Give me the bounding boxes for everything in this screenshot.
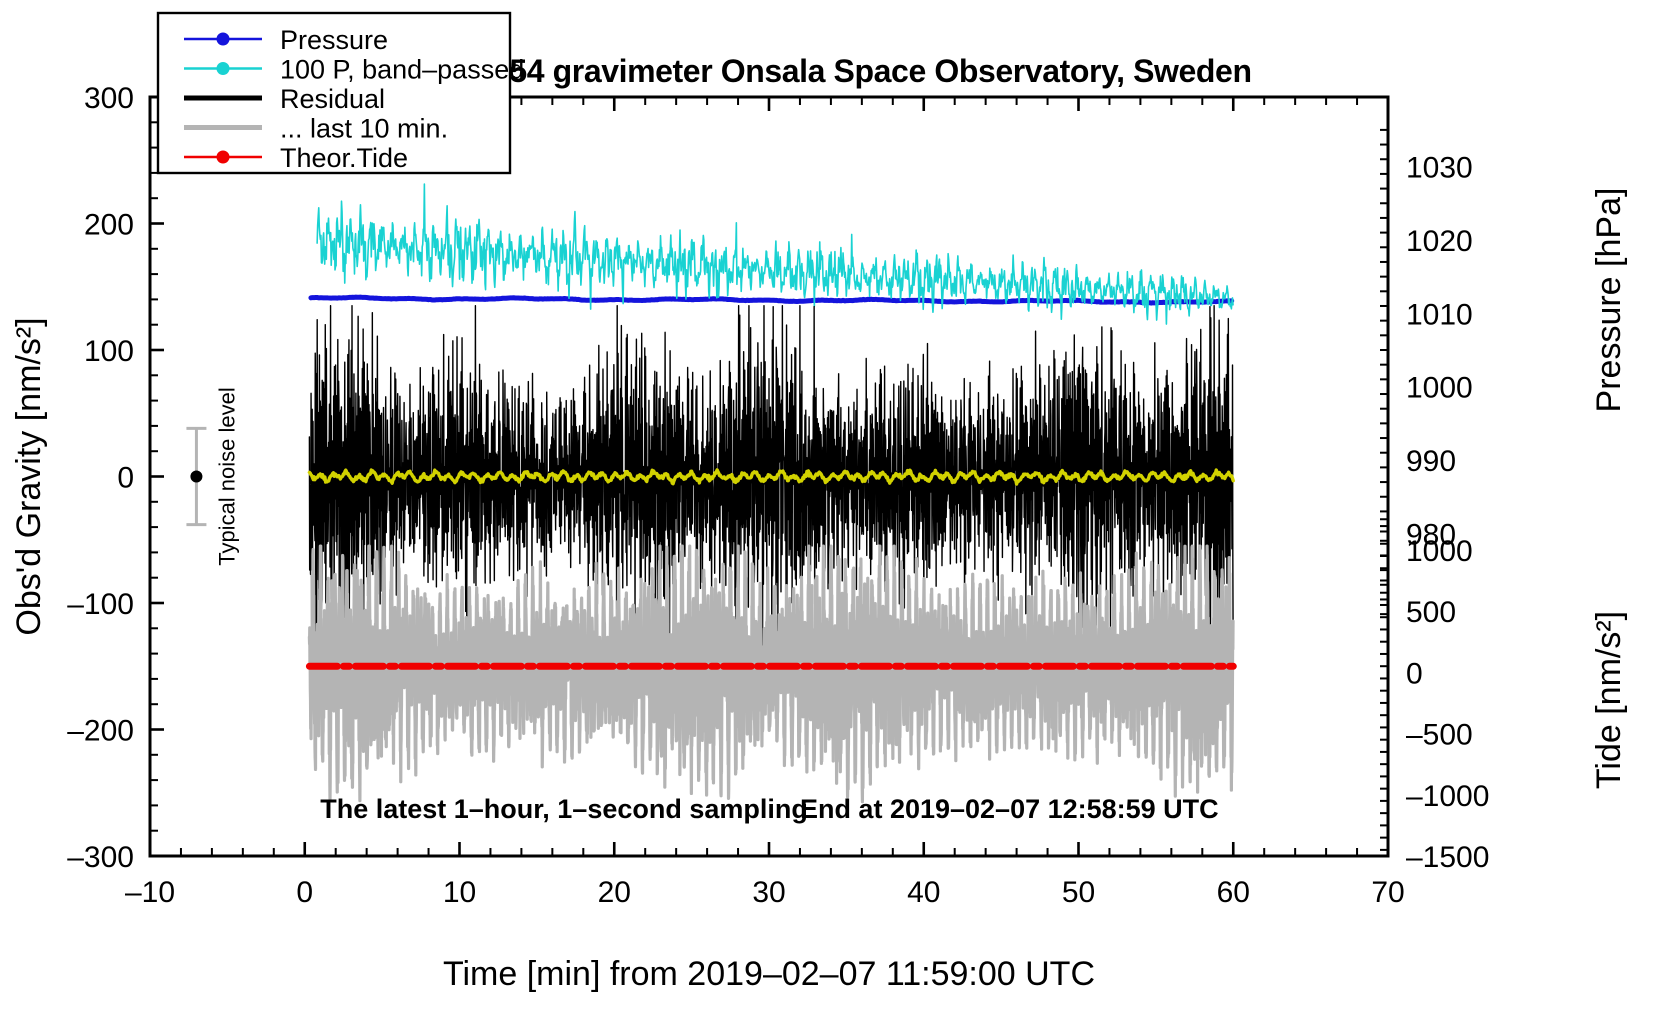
chart-title: SCG_054 gravimeter Onsala Space Observat… xyxy=(406,53,1251,89)
pressure-tick-label: 1020 xyxy=(1406,225,1473,258)
tide-tick-label: –500 xyxy=(1406,719,1473,752)
y-tick-label: –300 xyxy=(67,841,134,874)
y-tick-label: –100 xyxy=(67,588,134,621)
y-tick-label: 0 xyxy=(117,462,134,495)
tide-tick-label: –1500 xyxy=(1406,841,1489,874)
tide-axis-title: Tide [nm/s²] xyxy=(1590,611,1628,789)
legend-marker-icon xyxy=(217,33,230,46)
y-tick-label: 100 xyxy=(84,335,134,368)
bottom-left-note: The latest 1–hour, 1–second sampling xyxy=(320,794,808,824)
x-tick-label: 60 xyxy=(1217,876,1250,909)
legend: Pressure100 P, band–passedResidual... la… xyxy=(158,13,524,173)
legend-marker-icon xyxy=(217,62,230,75)
y-tick-label: 300 xyxy=(84,82,134,115)
pressure-tick-label: 1000 xyxy=(1406,372,1473,405)
y-axis-left: 3002001000–100–200–300Obs'd Gravity [nm/… xyxy=(10,82,164,874)
y-axis-title: Obs'd Gravity [nm/s²] xyxy=(10,317,48,635)
legend-label: 100 P, band–passed xyxy=(280,55,524,85)
x-tick-label: 40 xyxy=(907,876,940,909)
legend-label: Residual xyxy=(280,84,385,114)
legend-label: Pressure xyxy=(280,25,388,55)
x-tick-label: –10 xyxy=(125,876,175,909)
tide-tick-label: 1000 xyxy=(1406,535,1473,568)
x-tick-label: 50 xyxy=(1062,876,1095,909)
x-tick-label: 70 xyxy=(1371,876,1404,909)
legend-marker-icon xyxy=(217,151,230,164)
chart-canvas: –10010203040506070Time [min] from 2019–0… xyxy=(0,0,1660,1020)
pressure-tick-label: 1010 xyxy=(1406,298,1473,331)
y-tick-label: –200 xyxy=(67,715,134,748)
noise-errorbar-dot xyxy=(190,471,202,483)
x-tick-label: 0 xyxy=(296,876,313,909)
x-axis-title: Time [min] from 2019–02–07 11:59:00 UTC xyxy=(443,955,1095,993)
legend-label: Theor.Tide xyxy=(280,143,408,173)
legend-label: ... last 10 min. xyxy=(280,114,448,144)
gravimeter-chart: –10010203040506070Time [min] from 2019–0… xyxy=(0,0,1660,1020)
y-tick-label: 200 xyxy=(84,209,134,242)
pressure-tick-label: 990 xyxy=(1406,445,1456,478)
x-tick-label: 20 xyxy=(598,876,631,909)
noise-level-label: Typical noise level xyxy=(214,387,239,566)
tide-tick-label: –1000 xyxy=(1406,780,1489,813)
data-traces xyxy=(309,184,1233,802)
pressure-tick-label: 1030 xyxy=(1406,152,1473,185)
pressure-axis-title: Pressure [hPa] xyxy=(1590,188,1628,413)
tide-tick-label: 500 xyxy=(1406,596,1456,629)
x-tick-label: 30 xyxy=(752,876,785,909)
bottom-right-note: End at 2019–02–07 12:58:59 UTC xyxy=(800,794,1219,824)
tide-tick-label: 0 xyxy=(1406,657,1423,690)
y-axis-right-tide: 10005000–500–1000–1500Tide [nm/s²] xyxy=(1380,519,1628,874)
x-tick-label: 10 xyxy=(443,876,476,909)
